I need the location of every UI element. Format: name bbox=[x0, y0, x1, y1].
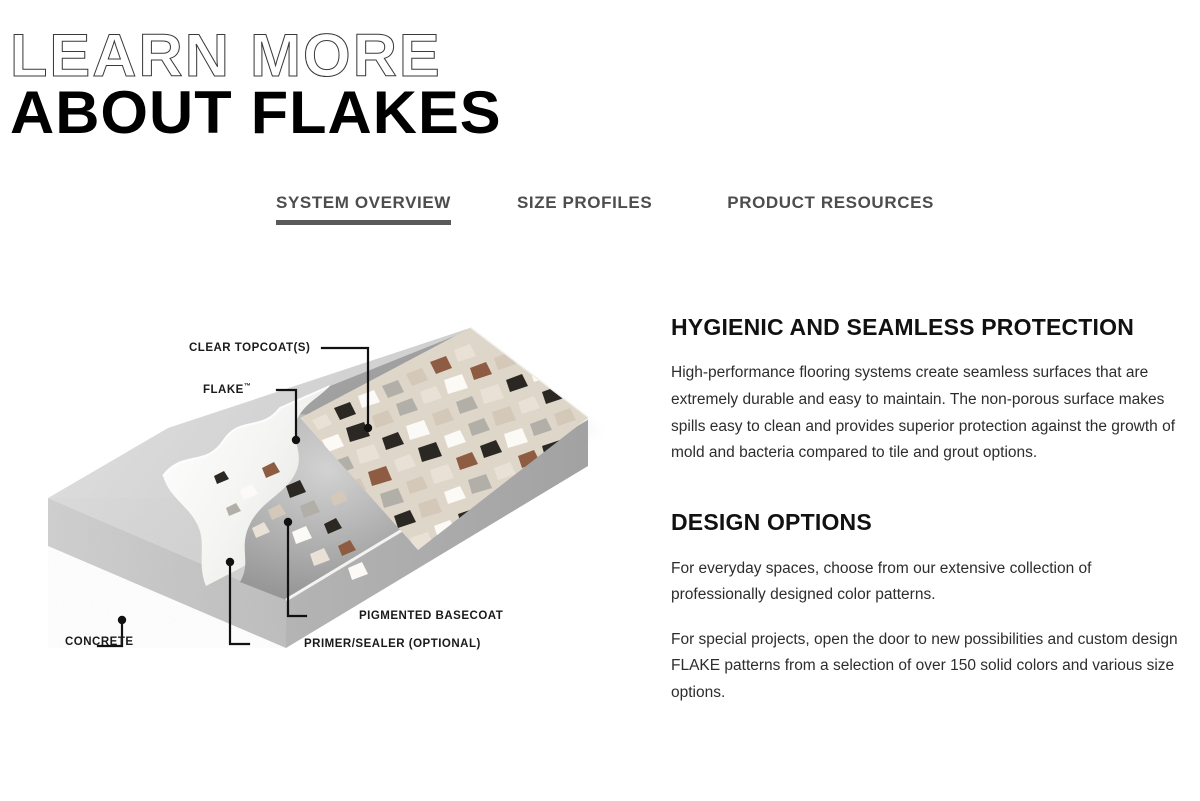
tab-bar: SYSTEM OVERVIEW SIZE PROFILES PRODUCT RE… bbox=[276, 193, 934, 225]
section-paragraph-hygienic: High-performance flooring systems create… bbox=[671, 360, 1181, 467]
leader-dot-primer bbox=[226, 558, 234, 566]
diagram-label-pigmented-basecoat: PIGMENTED BASECOAT bbox=[359, 610, 503, 622]
tab-product-resources[interactable]: PRODUCT RESOURCES bbox=[727, 193, 934, 225]
leader-dot-concrete bbox=[118, 616, 126, 624]
diagram-label-flake-text: FLAKE bbox=[203, 384, 244, 396]
page-root: LEARN MORE ABOUT FLAKES SYSTEM OVERVIEW … bbox=[0, 0, 1200, 801]
section-heading-design-options: DESIGN OPTIONS bbox=[671, 509, 1181, 535]
diagram-label-clear-topcoat: CLEAR TOPCOAT(S) bbox=[189, 342, 310, 354]
diagram-label-primer-sealer: PRIMER/SEALER (OPTIONAL) bbox=[304, 638, 481, 650]
section-paragraph-design-2: For special projects, open the door to n… bbox=[671, 627, 1181, 707]
hero-title-line-solid: ABOUT FLAKES bbox=[10, 85, 502, 140]
tab-system-overview[interactable]: SYSTEM OVERVIEW bbox=[276, 193, 451, 225]
content-column: HYGIENIC AND SEAMLESS PROTECTION High-pe… bbox=[671, 314, 1181, 707]
trademark-symbol: ™ bbox=[244, 383, 251, 390]
leader-dot-topcoat bbox=[364, 424, 372, 432]
tab-size-profiles[interactable]: SIZE PROFILES bbox=[517, 193, 652, 225]
diagram-label-flake: FLAKE™ bbox=[203, 383, 251, 396]
diagram-label-concrete: CONCRETE bbox=[65, 636, 134, 648]
page-title: LEARN MORE ABOUT FLAKES bbox=[10, 28, 492, 140]
section-heading-hygienic: HYGIENIC AND SEAMLESS PROTECTION bbox=[671, 314, 1181, 340]
hero-title-line-outline: LEARN MORE bbox=[10, 28, 502, 83]
leader-dot-basecoat bbox=[284, 518, 292, 526]
leader-dot-flake bbox=[292, 436, 300, 444]
section-paragraph-design-1: For everyday spaces, choose from our ext… bbox=[671, 556, 1181, 609]
